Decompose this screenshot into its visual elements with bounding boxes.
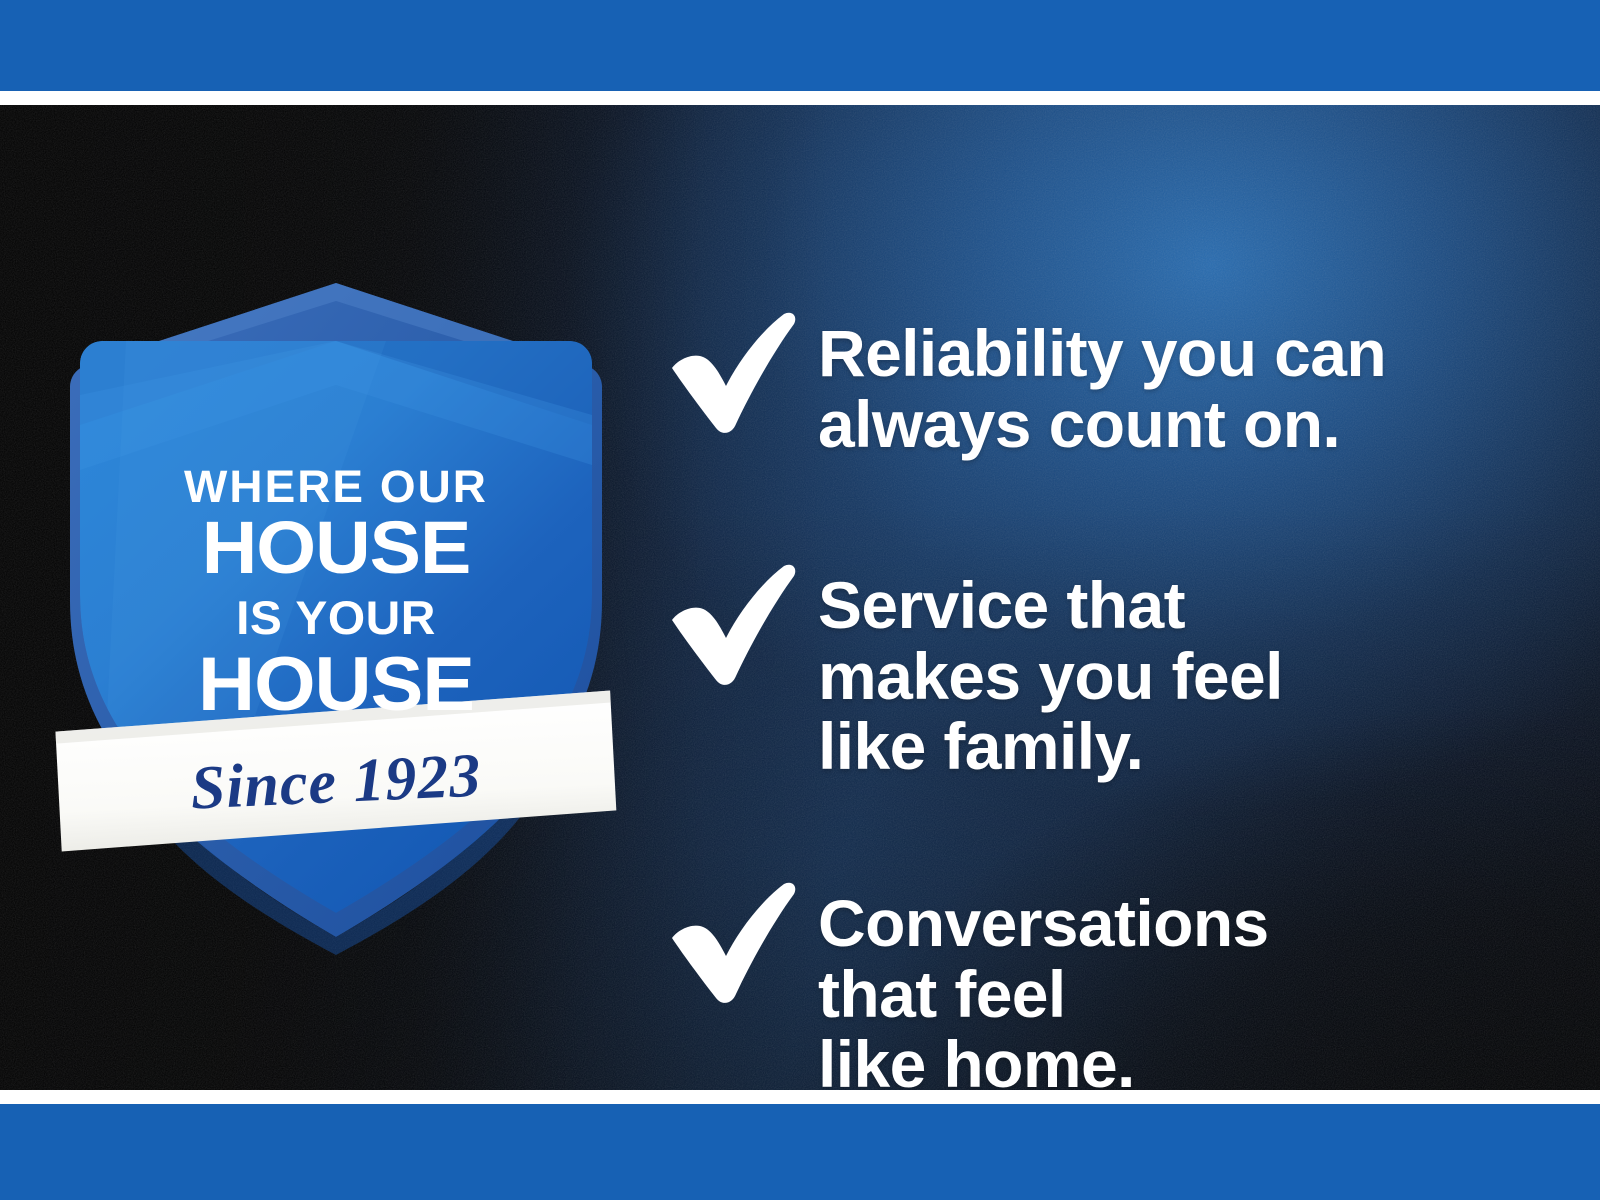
check-icon [660,880,800,1006]
bottom-brand-bar [0,1104,1600,1200]
benefit-text: Service that makes you feel like family. [818,562,1283,782]
check-icon [660,562,800,688]
benefit-item-service: Service that makes you feel like family. [660,562,1283,782]
benefit-item-conversations: Conversations that feel like home. [660,880,1269,1100]
shield-badge: Where Our House Is Your House Since 1923 [66,265,606,945]
benefit-list: Reliability you can always count on. Ser… [660,210,1560,1104]
benefit-text: Conversations that feel like home. [818,880,1269,1100]
top-white-divider [0,91,1600,105]
top-brand-bar [0,0,1600,91]
check-icon [660,310,800,436]
bottom-white-divider [0,1090,1600,1104]
benefit-text: Reliability you can always count on. [818,310,1386,459]
main-stage: Where Our House Is Your House Since 1923… [0,105,1600,1104]
benefit-item-reliability: Reliability you can always count on. [660,310,1386,459]
promo-graphic-canvas: Where Our House Is Your House Since 1923… [0,0,1600,1200]
